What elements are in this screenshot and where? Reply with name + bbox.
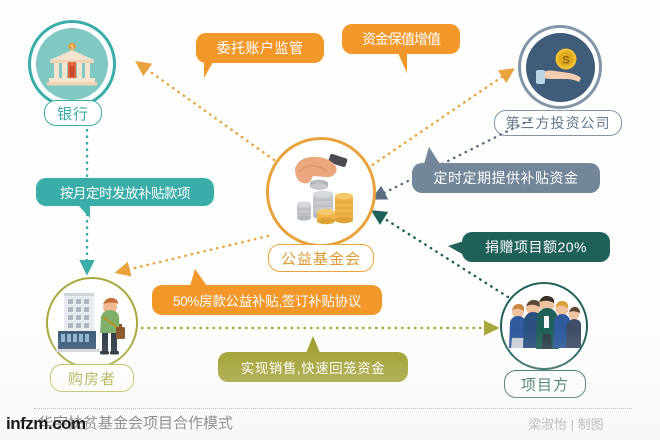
infzm-watermark: infzm.com — [6, 414, 86, 434]
callout-fast-sales-return-label: 实现销售,快速回笼资金 — [241, 357, 385, 377]
callout-value-preservation-tail — [394, 53, 407, 73]
callout-fast-sales-return[interactable]: 实现销售,快速回笼资金 — [218, 352, 408, 382]
callout-housing-subsidy-agreement-tail — [190, 269, 207, 286]
callout-entrusted-supervision-tail — [204, 62, 218, 78]
callout-donate-20-percent-label: 捐赠项目额20% — [485, 237, 587, 257]
callout-entrusted-supervision-label: 委托账户监管 — [217, 38, 304, 58]
node-foundation-circle[interactable] — [266, 137, 376, 247]
callout-housing-subsidy-agreement-label: 50%房款公益补贴,签订补贴协议 — [173, 290, 361, 310]
infzm-watermark-text: infzm.com — [6, 414, 86, 433]
infographic-canvas: $ 银行 S — [0, 0, 660, 440]
callout-monthly-subsidy-payment[interactable]: 按月定时发放补贴款项 — [36, 178, 214, 206]
hand-dropping-coins-icon — [277, 150, 365, 234]
callout-housing-subsidy-agreement[interactable]: 50%房款公益补贴,签订补贴协议 — [152, 285, 382, 315]
callout-fast-sales-return-tail — [306, 336, 320, 353]
callout-monthly-subsidy-payment-label: 按月定时发放补贴款项 — [60, 182, 190, 202]
callout-monthly-subsidy-payment-tail — [74, 205, 90, 218]
connector-foundation-to-buyer — [118, 236, 268, 272]
callout-entrusted-supervision[interactable]: 委托账户监管 — [196, 33, 324, 63]
callout-value-preservation-label: 资金保值增值 — [362, 29, 440, 49]
callout-periodic-subsidy-funding-tail — [424, 147, 440, 164]
node-foundation-label: 公益基金会 — [281, 248, 361, 269]
callout-donate-20-percent[interactable]: 捐赠项目额20% — [462, 232, 610, 262]
callout-periodic-subsidy-funding-label: 定时定期提供补贴资金 — [434, 168, 579, 188]
callout-periodic-subsidy-funding[interactable]: 定时定期提供补贴资金 — [412, 163, 600, 193]
node-foundation-label-pill[interactable]: 公益基金会 — [268, 244, 374, 272]
callout-value-preservation[interactable]: 资金保值增值 — [342, 24, 460, 54]
